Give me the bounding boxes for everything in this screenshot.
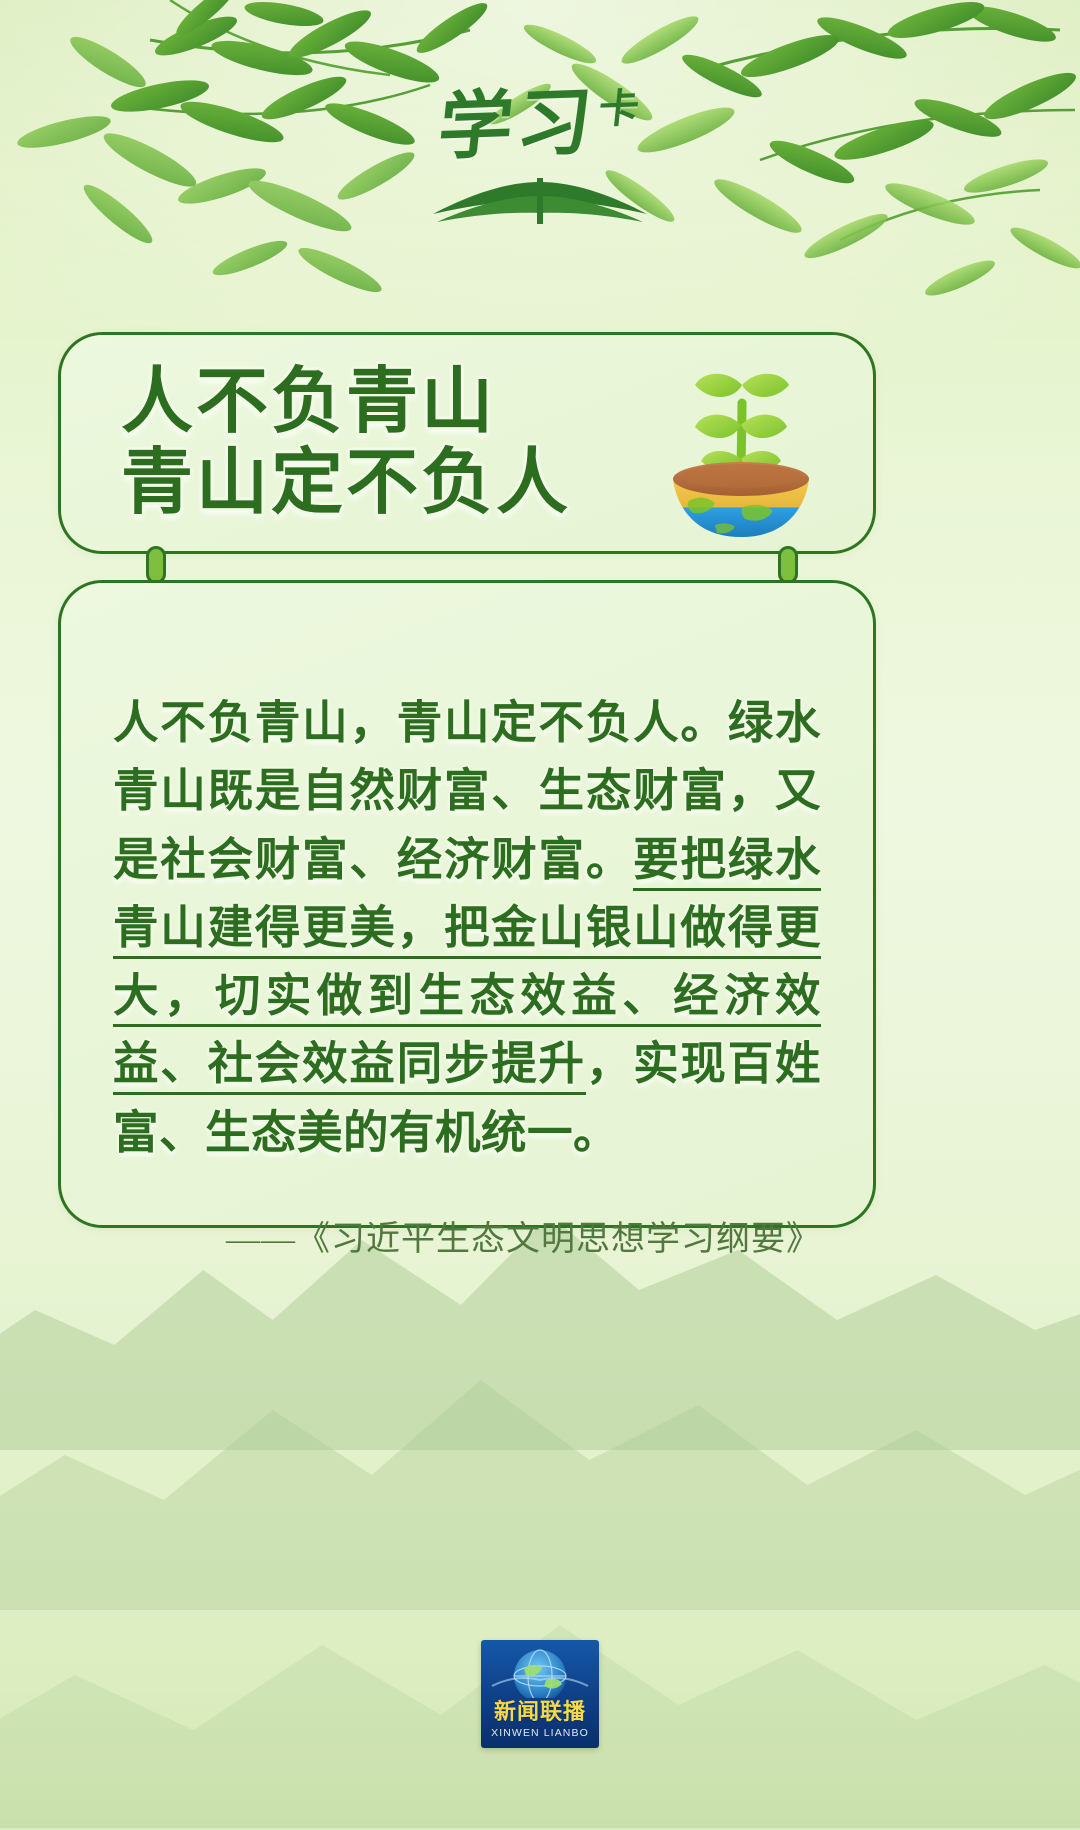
willow-leaves-decoration xyxy=(0,0,1080,330)
news-program-badge: 新闻联播 XINWEN LIANBO xyxy=(481,1640,599,1748)
title-line-2: 青山定不负人 xyxy=(121,443,571,524)
badge-title-cn: 新闻联播 xyxy=(494,1700,586,1724)
globe-icon xyxy=(488,1646,592,1698)
connector-left xyxy=(146,546,166,584)
title-line-1: 人不负青山 xyxy=(121,362,571,443)
title-text-wrap: 人不负青山 青山定不负人 xyxy=(61,362,571,523)
quote-card: 人不负青山，青山定不负人。绿水青山既是自然财富、生态财富，又是社会财富、经济财富… xyxy=(58,580,876,1228)
badge-title-en: XINWEN LIANBO xyxy=(491,1727,589,1739)
connector-right xyxy=(778,546,798,584)
quote-attribution: ——《习近平生态文明思想学习纲要》 xyxy=(113,1211,821,1260)
quote-text: 人不负青山，青山定不负人。绿水青山既是自然财富、生态财富，又是社会财富、经济财富… xyxy=(113,689,821,1167)
mountain-ridge-near xyxy=(0,1420,1080,1830)
sprout-in-globe-pot-icon xyxy=(647,351,837,551)
title-card: 人不负青山 青山定不负人 xyxy=(58,332,876,554)
